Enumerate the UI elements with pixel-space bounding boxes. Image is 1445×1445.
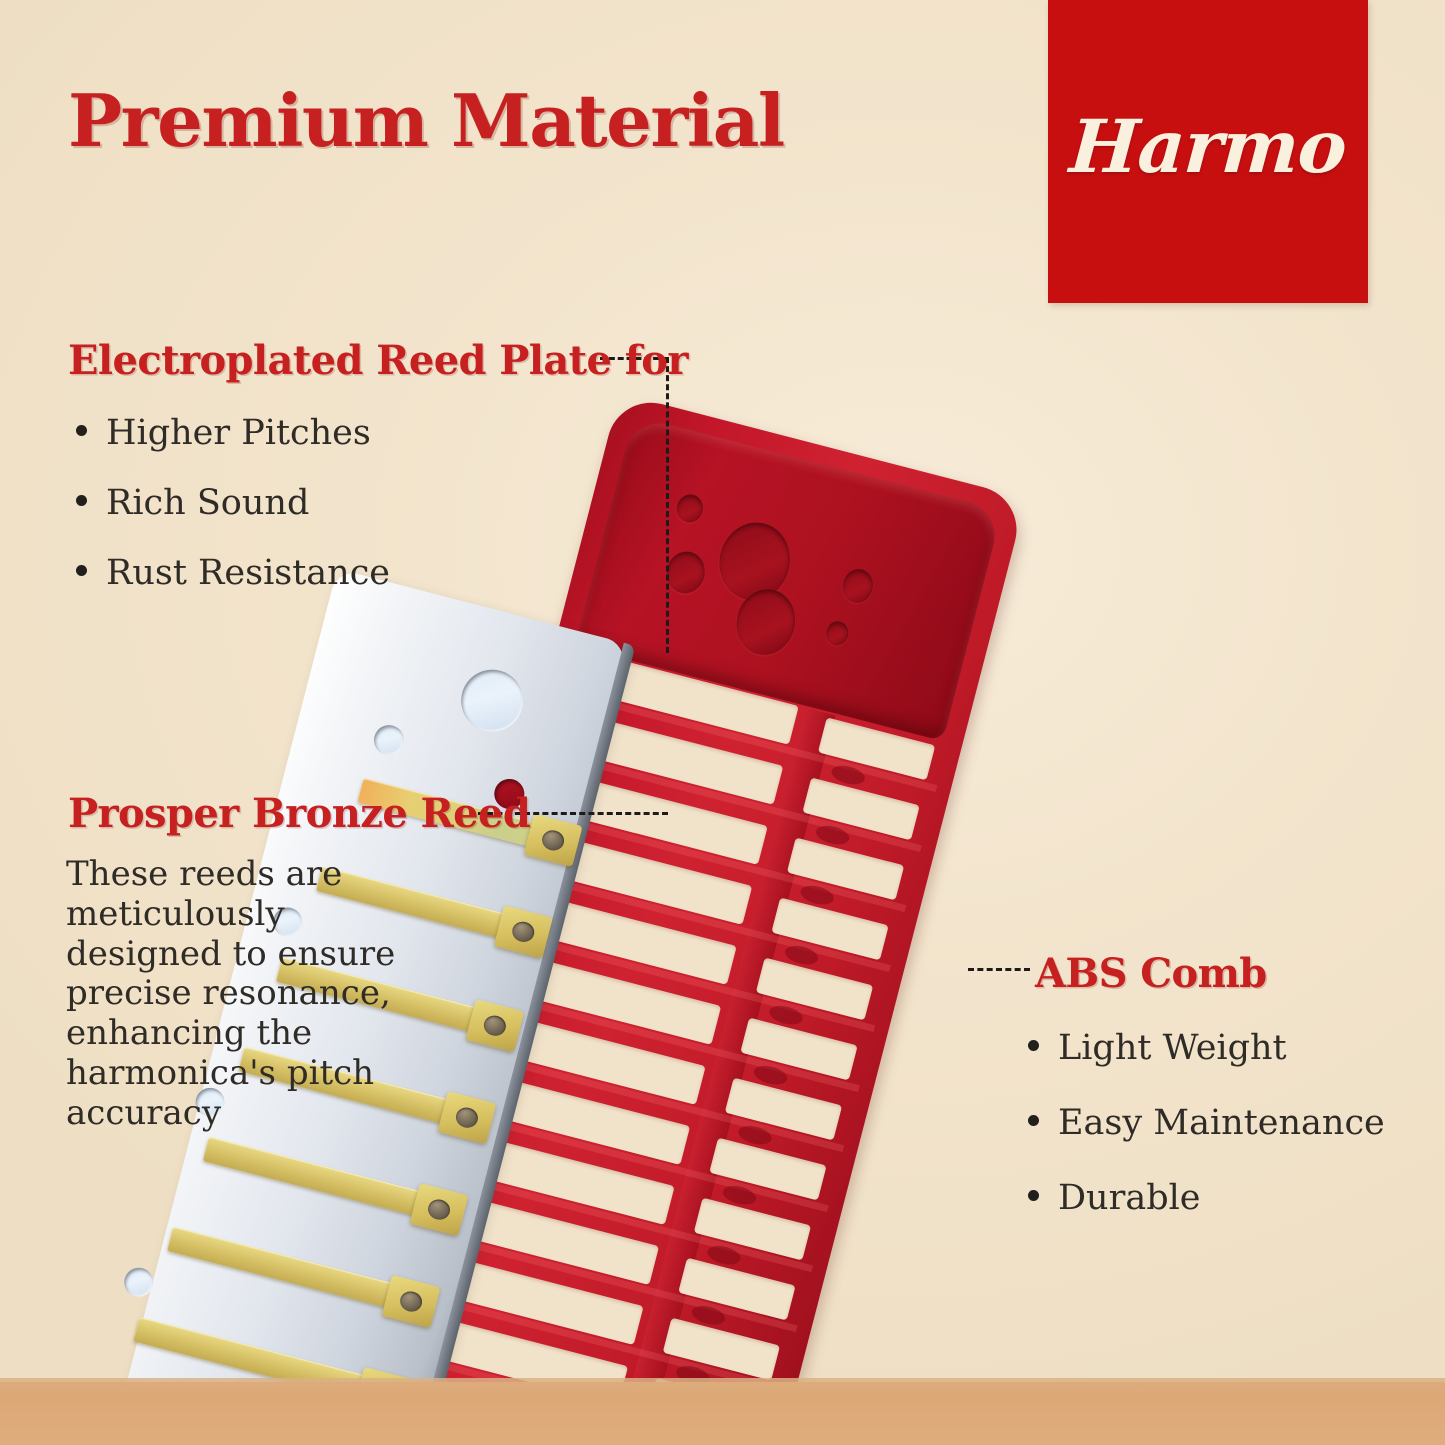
bullet-item-abs-comb-label: Durable	[1058, 1178, 1201, 1218]
bullet-item-reed-plate: Rust Resistance	[76, 553, 390, 593]
comb-boss	[839, 566, 877, 606]
callout-paragraph-bronze-reed: These reeds are meticulously designed to…	[66, 855, 396, 1133]
leader-line-abs-comb	[968, 968, 1030, 971]
page-title: Premium Material	[68, 78, 784, 163]
bullet-item-abs-comb-label: Easy Maintenance	[1058, 1103, 1385, 1143]
bullet-item-abs-comb: Easy Maintenance	[1028, 1103, 1385, 1143]
comb-boss	[662, 547, 709, 597]
callout-heading-abs-comb: ABS Comb	[1035, 950, 1267, 997]
comb-boss	[674, 492, 706, 526]
bullet-item-abs-comb: Durable	[1028, 1178, 1385, 1218]
callout-heading-reed-plate: Electroplated Reed Plate for	[68, 337, 688, 384]
bullet-list-abs-comb: Light WeightEasy MaintenanceDurable	[1028, 1028, 1385, 1253]
bullet-dot-icon	[1028, 1040, 1039, 1051]
comb-boss	[824, 619, 851, 648]
bullet-dot-icon	[76, 425, 87, 436]
bullet-dot-icon	[76, 495, 87, 506]
bullet-item-reed-plate-label: Higher Pitches	[106, 413, 371, 453]
brand-logo-text: Harmo	[1045, 104, 1371, 190]
bullet-dot-icon	[1028, 1190, 1039, 1201]
infographic-canvas: Harmo Premium Material Electroplated Ree…	[0, 0, 1445, 1445]
bullet-list-reed-plate: Higher PitchesRich SoundRust Resistance	[76, 413, 390, 623]
bullet-item-reed-plate-label: Rust Resistance	[106, 553, 390, 593]
brand-logo[interactable]: Harmo	[1048, 0, 1368, 303]
bullet-item-reed-plate-label: Rich Sound	[106, 483, 309, 523]
bullet-item-abs-comb: Light Weight	[1028, 1028, 1385, 1068]
bullet-item-reed-plate: Higher Pitches	[76, 413, 390, 453]
bullet-dot-icon	[76, 565, 87, 576]
bullet-item-reed-plate: Rich Sound	[76, 483, 390, 523]
bullet-item-abs-comb-label: Light Weight	[1058, 1028, 1287, 1068]
leader-line-reed-plate-vertical	[666, 357, 669, 653]
bullet-dot-icon	[1028, 1115, 1039, 1126]
callout-heading-bronze-reed: Prosper Bronze Reed	[68, 790, 530, 837]
table-surface-band	[0, 1382, 1445, 1445]
